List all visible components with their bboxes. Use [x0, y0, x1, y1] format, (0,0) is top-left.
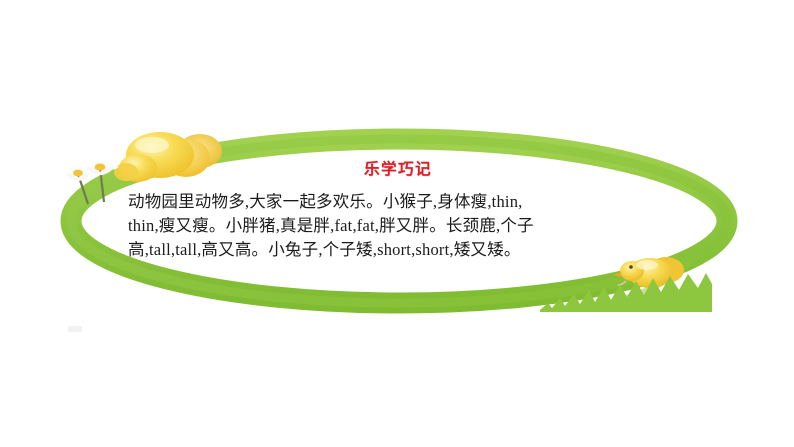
- verse-content-block: 乐学巧记 动物园里动物多,大家一起多欢乐。小猴子,身体瘦,thin, thin,…: [128, 162, 668, 287]
- verse-line-3: 高,tall,tall,高又高。小兔子,个子矮,short,short,矮又矮。: [128, 238, 668, 262]
- faint-artifact-mark: [68, 326, 82, 332]
- chick-highlight: [135, 137, 169, 153]
- daisy-stem-2: [100, 168, 104, 202]
- slide-canvas: 乐学巧记 动物园里动物多,大家一起多欢乐。小猴子,身体瘦,thin, thin,…: [0, 0, 794, 447]
- verse-line-1: 动物园里动物多,大家一起多欢乐。小猴子,身体瘦,thin,: [128, 190, 668, 214]
- verse-line-2: thin,瘦又瘦。小胖猪,真是胖,fat,fat,胖又胖。长颈鹿,个子: [128, 214, 668, 238]
- verse-text: 动物园里动物多,大家一起多欢乐。小猴子,身体瘦,thin, thin,瘦又瘦。小…: [128, 190, 668, 262]
- daisy-flower-1: [62, 164, 94, 183]
- white-daisy-flowers-icon: [62, 158, 124, 216]
- daisy-flower-2: [82, 158, 118, 177]
- daisy-stem-1: [78, 174, 88, 204]
- page-title: 乐学巧记: [128, 162, 668, 178]
